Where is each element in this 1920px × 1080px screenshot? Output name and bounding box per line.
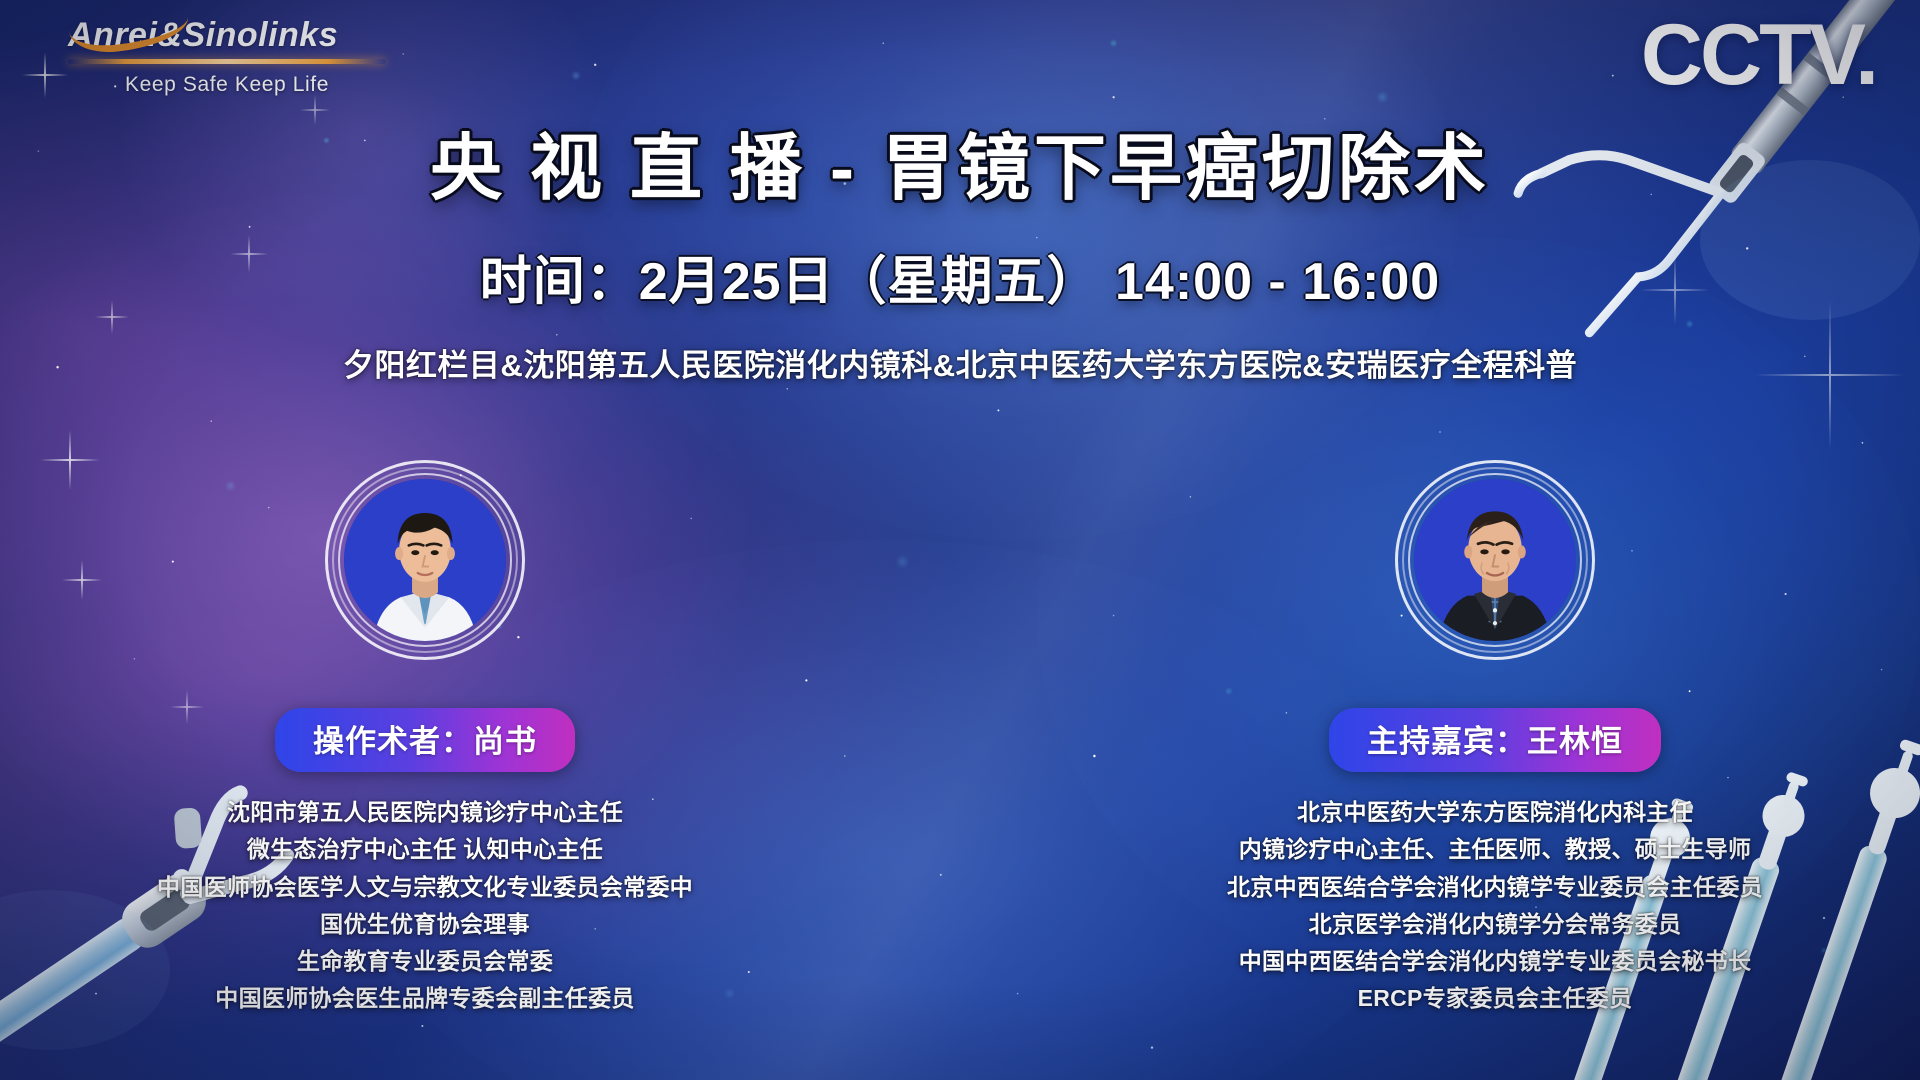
event-subtitle: 夕阳红栏目&沈阳第五人民医院消化内镜科&北京中医药大学东方医院&安瑞医疗全程科普 — [0, 340, 1920, 385]
cctv-logo: CCTV. — [1641, 12, 1876, 98]
headline-block: 央 视 直 播 - 胃镜下早癌切除术 时间：2月25日（星期五） 14:00 -… — [0, 130, 1920, 385]
avatar — [1395, 460, 1595, 660]
speaker-card-host: 主持嘉宾：王林恒 北京中医药大学东方医院消化内科主任 内镜诊疗中心主任、主任医师… — [1175, 460, 1815, 1018]
list-item: 北京中医药大学东方医院消化内科主任 — [1175, 794, 1815, 831]
live-broadcast-poster: Anrei&Sinolinks Keep Safe Keep Life CCTV… — [0, 0, 1920, 1080]
sparkle-star-icon — [300, 95, 330, 125]
speakers-section: 操作术者：尚书 沈阳市第五人民医院内镜诊疗中心主任 微生态治疗中心主任 认知中心… — [0, 460, 1920, 1018]
list-item: 北京医学会消化内镜学分会常务委员 — [1175, 906, 1815, 943]
brand-logo: Anrei&Sinolinks Keep Safe Keep Life — [68, 18, 388, 97]
list-item: 生命教育专业委员会常委 — [105, 943, 745, 980]
brand-name: Anrei&Sinolinks — [68, 18, 388, 52]
speaker-card-operator: 操作术者：尚书 沈阳市第五人民医院内镜诊疗中心主任 微生态治疗中心主任 认知中心… — [105, 460, 745, 1018]
avatar-photo-operator — [344, 479, 506, 641]
credentials-list-operator: 沈阳市第五人民医院内镜诊疗中心主任 微生态治疗中心主任 认知中心主任 中国医师协… — [105, 794, 745, 1018]
avatar — [325, 460, 525, 660]
status-badge: 主持嘉宾：王林恒 — [1329, 708, 1661, 772]
avatar-photo-host — [1414, 479, 1576, 641]
list-item: 中国医师协会医学人文与宗教文化专业委员会常委中 — [105, 869, 745, 906]
list-item: 内镜诊疗中心主任、主任医师、教授、硕士生导师 — [1175, 831, 1815, 868]
brand-divider — [68, 59, 386, 64]
list-item: 微生态治疗中心主任 认知中心主任 — [105, 831, 745, 868]
credentials-list-host: 北京中医药大学东方医院消化内科主任 内镜诊疗中心主任、主任医师、教授、硕士生导师… — [1175, 794, 1815, 1018]
list-item: 北京中西医结合学会消化内镜学专业委员会主任委员 — [1175, 869, 1815, 906]
list-item: 沈阳市第五人民医院内镜诊疗中心主任 — [105, 794, 745, 831]
list-item: 中国医师协会医生品牌专委会副主任委员 — [105, 980, 745, 1017]
list-item: ERCP专家委员会主任委员 — [1175, 980, 1815, 1017]
brand-tagline: Keep Safe Keep Life — [68, 73, 386, 97]
status-badge: 操作术者：尚书 — [275, 708, 575, 772]
list-item: 国优生优育协会理事 — [105, 906, 745, 943]
sparkle-star-icon — [22, 52, 68, 98]
page-title: 央 视 直 播 - 胃镜下早癌切除术 — [0, 130, 1920, 209]
list-item: 中国中西医结合学会消化内镜学专业委员会秘书长 — [1175, 943, 1815, 980]
event-time: 时间：2月25日（星期五） 14:00 - 16:00 — [0, 239, 1920, 314]
